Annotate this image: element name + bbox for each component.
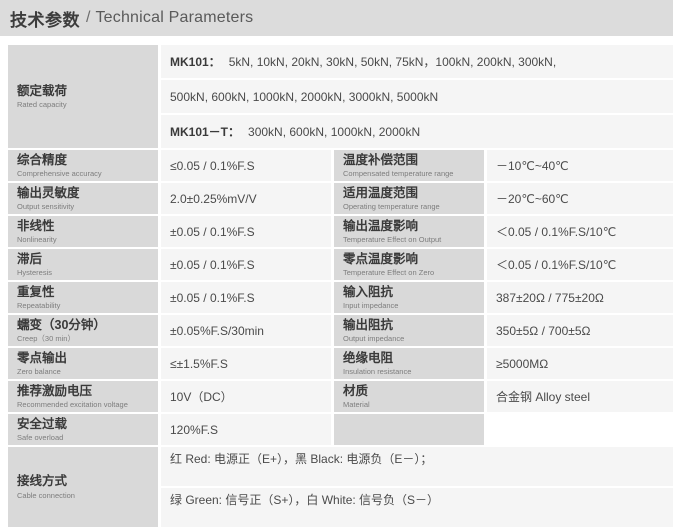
section-title-en: Technical Parameters: [95, 9, 253, 27]
label-zero-balance: 零点输出 Zero balance: [8, 348, 158, 379]
value-output-impedance: 350±5Ω / 700±5Ω: [487, 315, 673, 346]
capacity-values: 5kN, 10kN, 20kN, 30kN, 50kN, 75kN，100kN,…: [229, 53, 556, 70]
label-insulation-resistance: 绝缘电阻 Insulation resistance: [334, 348, 484, 379]
parameters-grid: 额定载荷 Rated capacity MK101： 5kN, 10kN, 20…: [0, 36, 673, 527]
label-recommended-excitation-voltage: 推荐激励电压 Recommended excitation voltage: [8, 381, 158, 412]
technical-parameters-sheet: 技术参数 / Technical Parameters 额定载荷 Rated c…: [0, 0, 673, 516]
label-creep: 蠕变（30分钟） Creep（30 min）: [8, 315, 158, 346]
label-cn: 零点输出: [17, 351, 67, 367]
label-cn: 输出阻抗: [343, 318, 393, 334]
label-en: Recommended excitation voltage: [17, 400, 128, 409]
capacity-values: 300kN, 600kN, 1000kN, 2000kN: [248, 125, 420, 139]
label-en: Creep（30 min）: [17, 334, 75, 343]
value-hysteresis: ±0.05 / 0.1%F.S: [161, 249, 331, 280]
table-row: 蠕变（30分钟） Creep（30 min） ±0.05%F.S/30min 输…: [8, 315, 673, 346]
label-material: 材质 Material: [334, 381, 484, 412]
label-cn: 重复性: [17, 285, 55, 301]
value-repeatability: ±0.05 / 0.1%F.S: [161, 282, 331, 313]
table-row: 重复性 Repeatability ±0.05 / 0.1%F.S 输入阻抗 I…: [8, 282, 673, 313]
label-en: Output sensitivity: [17, 202, 74, 211]
label-en: Material: [343, 400, 370, 409]
model-label: MK101－T：: [170, 123, 240, 140]
table-row: 综合精度 Comprehensive accuracy ≤0.05 / 0.1%…: [8, 150, 673, 181]
model-label: MK101：: [170, 53, 221, 70]
value-compensated-temperature-range: －10℃~40℃: [487, 150, 673, 181]
label-en: Zero balance: [17, 367, 61, 376]
label-cn: 输出灵敏度: [17, 186, 80, 202]
section-title-cn: 技术参数: [10, 6, 80, 31]
label-cn: 安全过载: [17, 417, 67, 433]
label-rated-capacity: 额定载荷 Rated capacity: [8, 45, 158, 148]
table-row-cable-connection: 接线方式 Cable connection 红 Red: 电源正（E+），黑 B…: [8, 447, 673, 527]
capacity-line: 500kN, 600kN, 1000kN, 2000kN, 3000kN, 50…: [161, 80, 673, 113]
table-row-rated-capacity: 额定载荷 Rated capacity MK101： 5kN, 10kN, 20…: [8, 45, 673, 148]
value-comprehensive-accuracy: ≤0.05 / 0.1%F.S: [161, 150, 331, 181]
rated-capacity-lines: MK101： 5kN, 10kN, 20kN, 30kN, 50kN, 75kN…: [161, 45, 673, 148]
label-en: Repeatability: [17, 301, 60, 310]
label-en: Input impedance: [343, 301, 398, 310]
value-temperature-effect-on-zero: ＜0.05 / 0.1%F.S/10℃: [487, 249, 673, 280]
label-repeatability: 重复性 Repeatability: [8, 282, 158, 313]
label-en: Safe overload: [17, 433, 63, 442]
label-cn: 非线性: [17, 219, 55, 235]
title-separator: /: [86, 9, 90, 27]
label-cn: 推荐激励电压: [17, 384, 92, 400]
label-en: Hysteresis: [17, 268, 52, 277]
cable-connection-lines: 红 Red: 电源正（E+），黑 Black: 电源负（E－）； 绿 Green…: [161, 447, 673, 527]
label-temperature-effect-on-zero: 零点温度影响 Temperature Effect on Zero: [334, 249, 484, 280]
label-en: Rated capacity: [17, 100, 67, 109]
value-input-impedance: 387±20Ω / 775±20Ω: [487, 282, 673, 313]
cable-line: 红 Red: 电源正（E+），黑 Black: 电源负（E－）；: [161, 447, 673, 486]
label-cn: 接线方式: [17, 474, 67, 490]
value-material: 合金钢 Alloy steel: [487, 381, 673, 412]
label-hysteresis: 滞后 Hysteresis: [8, 249, 158, 280]
label-cn: 滞后: [17, 252, 42, 268]
label-empty-placeholder: [334, 414, 484, 445]
capacity-values: 500kN, 600kN, 1000kN, 2000kN, 3000kN, 50…: [170, 90, 438, 104]
value-creep: ±0.05%F.S/30min: [161, 315, 331, 346]
label-en: Temperature Effect on Zero: [343, 268, 434, 277]
cable-line: 绿 Green: 信号正（S+），白 White: 信号负（S－）: [161, 488, 673, 527]
label-temperature-effect-on-output: 输出温度影响 Temperature Effect on Output: [334, 216, 484, 247]
table-row: 非线性 Nonlinearity ±0.05 / 0.1%F.S 输出温度影响 …: [8, 216, 673, 247]
label-input-impedance: 输入阻抗 Input impedance: [334, 282, 484, 313]
label-output-impedance: 输出阻抗 Output impedance: [334, 315, 484, 346]
capacity-line: MK101： 5kN, 10kN, 20kN, 30kN, 50kN, 75kN…: [161, 45, 673, 78]
label-en: Cable connection: [17, 491, 75, 500]
table-row: 零点输出 Zero balance ≤±1.5%F.S 绝缘电阻 Insulat…: [8, 348, 673, 379]
label-cn: 输出温度影响: [343, 219, 418, 235]
label-en: Compensated temperature range: [343, 169, 453, 178]
table-row: 输出灵敏度 Output sensitivity 2.0±0.25%mV/V 适…: [8, 183, 673, 214]
column-gap: [484, 414, 487, 445]
label-en: Output impedance: [343, 334, 404, 343]
value-temperature-effect-on-output: ＜0.05 / 0.1%F.S/10℃: [487, 216, 673, 247]
label-en: Nonlinearity: [17, 235, 57, 244]
table-row: 滞后 Hysteresis ±0.05 / 0.1%F.S 零点温度影响 Tem…: [8, 249, 673, 280]
value-operating-temperature-range: －20℃~60℃: [487, 183, 673, 214]
label-comprehensive-accuracy: 综合精度 Comprehensive accuracy: [8, 150, 158, 181]
value-nonlinearity: ±0.05 / 0.1%F.S: [161, 216, 331, 247]
label-cn: 材质: [343, 384, 368, 400]
table-row: 推荐激励电压 Recommended excitation voltage 10…: [8, 381, 673, 412]
label-cn: 输入阻抗: [343, 285, 393, 301]
label-output-sensitivity: 输出灵敏度 Output sensitivity: [8, 183, 158, 214]
label-en: Temperature Effect on Output: [343, 235, 441, 244]
label-en: Insulation resistance: [343, 367, 411, 376]
value-zero-balance: ≤±1.5%F.S: [161, 348, 331, 379]
label-cn: 零点温度影响: [343, 252, 418, 268]
label-cn: 温度补偿范围: [343, 153, 418, 169]
value-safe-overload: 120%F.S: [161, 414, 331, 445]
label-compensated-temperature-range: 温度补偿范围 Compensated temperature range: [334, 150, 484, 181]
label-safe-overload: 安全过载 Safe overload: [8, 414, 158, 445]
value-output-sensitivity: 2.0±0.25%mV/V: [161, 183, 331, 214]
capacity-line: MK101－T： 300kN, 600kN, 1000kN, 2000kN: [161, 115, 673, 148]
label-cn: 绝缘电阻: [343, 351, 393, 367]
label-operating-temperature-range: 适用温度范围 Operating temperature range: [334, 183, 484, 214]
value-recommended-excitation-voltage: 10V（DC）: [161, 381, 331, 412]
table-row-safe-overload: 安全过载 Safe overload 120%F.S: [8, 414, 673, 445]
label-en: Comprehensive accuracy: [17, 169, 102, 178]
label-nonlinearity: 非线性 Nonlinearity: [8, 216, 158, 247]
label-cn: 综合精度: [17, 153, 67, 169]
label-en: Operating temperature range: [343, 202, 440, 211]
label-cn: 蠕变（30分钟）: [17, 318, 106, 334]
label-cable-connection: 接线方式 Cable connection: [8, 447, 158, 527]
label-cn: 额定载荷: [17, 84, 67, 100]
section-title-bar: 技术参数 / Technical Parameters: [0, 0, 673, 36]
label-cn: 适用温度范围: [343, 186, 418, 202]
value-insulation-resistance: ≥5000MΩ: [487, 348, 673, 379]
